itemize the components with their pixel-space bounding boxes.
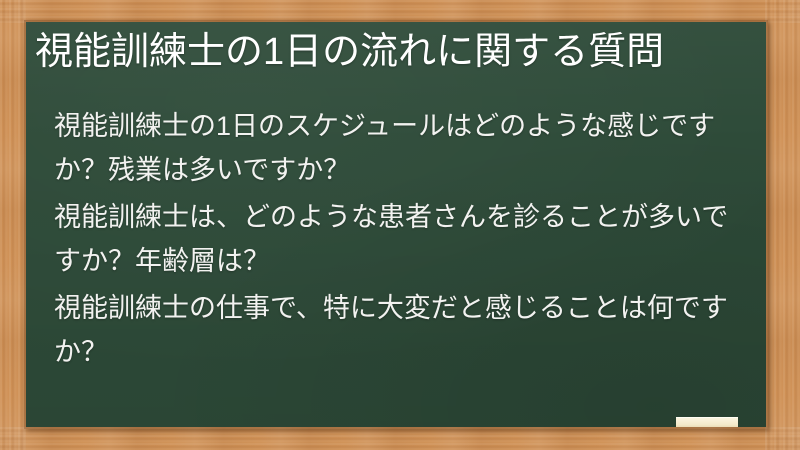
slide-canvas: 視能訓練士の1日の流れに関する質問 視能訓練士の1日のスケジュールはどのような感… <box>0 0 800 450</box>
chalkboard: 視能訓練士の1日の流れに関する質問 視能訓練士の1日のスケジュールはどのような感… <box>26 22 766 427</box>
frame-bottom-rail <box>0 427 800 450</box>
question-item: 視能訓練士の1日のスケジュールはどのような感じですか？残業は多いですか？ <box>54 104 754 192</box>
chalkboard-eraser-icon <box>676 417 738 427</box>
frame-left-stile <box>0 0 26 450</box>
slide-title: 視能訓練士の1日の流れに関する質問 <box>35 30 751 74</box>
frame-right-stile <box>765 0 800 450</box>
question-item: 視能訓練士の仕事で、特に大変だと感じることは何ですか？ <box>54 286 754 374</box>
question-list: 視能訓練士の1日のスケジュールはどのような感じですか？残業は多いですか？ 視能訓… <box>54 104 754 377</box>
question-item: 視能訓練士は、どのような患者さんを診ることが多いですか？年齢層は？ <box>54 195 754 283</box>
